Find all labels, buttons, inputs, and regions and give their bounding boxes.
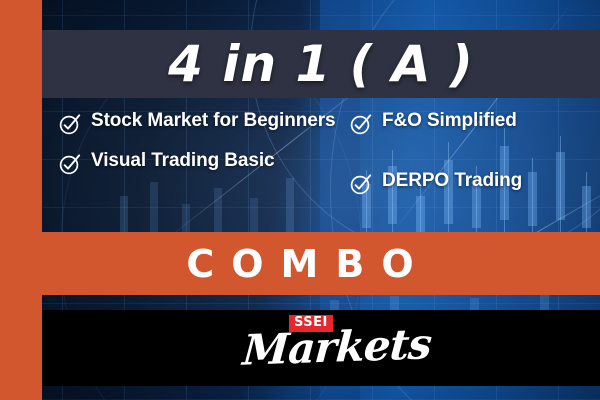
list-item: F&O Simplified	[349, 110, 600, 136]
feature-column-left: Stock Market for Beginners Visual Tradin…	[42, 100, 337, 230]
list-item: Visual Trading Basic	[58, 150, 337, 176]
course-combo-poster: 4 in 1 ( A ) Stock Market for Beginners	[0, 0, 600, 400]
page-title: 4 in 1 ( A )	[42, 24, 600, 104]
circle-check-icon	[58, 112, 82, 136]
circle-check-icon	[58, 152, 82, 176]
list-item-label: Visual Trading Basic	[91, 150, 275, 171]
feature-column-right: F&O Simplified DERPO Trading	[337, 100, 600, 230]
markets-wordmark: Markets	[241, 320, 405, 375]
brand-logo: SSEI Markets	[42, 310, 600, 386]
combo-label: COMBO	[0, 232, 600, 295]
list-item: Stock Market for Beginners	[58, 110, 337, 136]
list-item: DERPO Trading	[349, 170, 600, 196]
circle-check-icon	[349, 112, 373, 136]
list-item-label: Stock Market for Beginners	[91, 110, 335, 131]
feature-list: Stock Market for Beginners Visual Tradin…	[42, 100, 600, 230]
list-item-label: F&O Simplified	[382, 110, 517, 131]
left-accent-stripe	[0, 0, 42, 400]
circle-check-icon	[349, 172, 373, 196]
list-item-label: DERPO Trading	[382, 170, 522, 191]
